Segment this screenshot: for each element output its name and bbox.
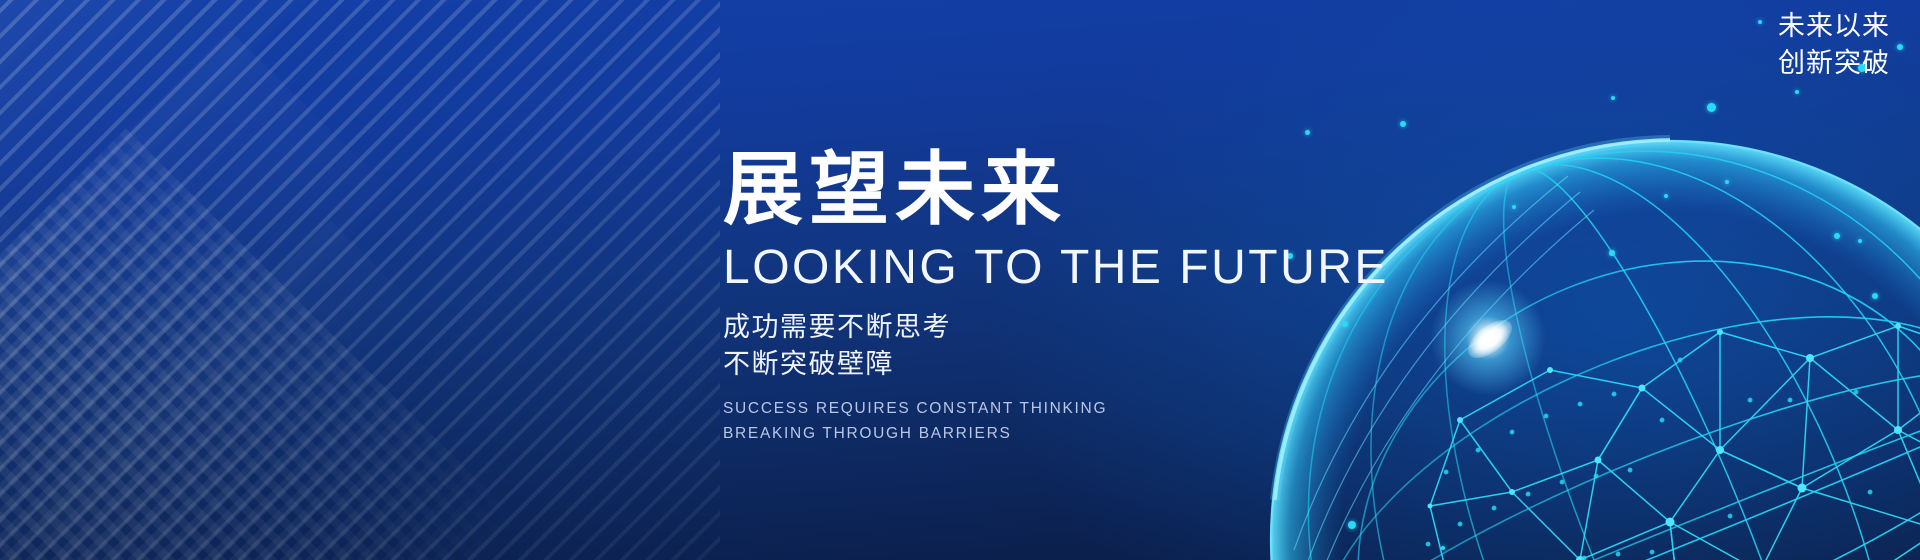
diagonal-band [26,220,415,560]
star-dot [1897,44,1903,50]
star-dot [1725,180,1729,184]
star-dot [1758,20,1762,24]
banner-root: 展望未来 LOOKING TO THE FUTURE 成功需要不断思考 不断突破… [0,0,1920,560]
star-dot [1348,521,1356,529]
subtitle-cn-line1: 成功需要不断思考 [723,309,1423,346]
headline-en: LOOKING TO THE FUTURE [723,242,1423,295]
star-dot [1834,233,1840,239]
star-dot [1858,239,1863,244]
star-dot [1664,194,1668,198]
corner-slogan-line2: 创新突破 [1778,45,1890,82]
rotated-checker-grid [0,128,522,560]
star-dot [1512,205,1516,209]
star-dot [1611,96,1615,100]
star-dot [1795,90,1799,94]
diagonal-line-pattern [0,0,720,560]
diagonal-band [0,0,337,504]
star-dot [1441,546,1445,550]
corner-slogan: 未来以来 创新突破 [1778,8,1890,83]
corner-slogan-line1: 未来以来 [1778,8,1890,45]
light-flare [1428,278,1548,398]
star-dot [1305,130,1310,135]
diagonal-band [0,30,393,560]
headline-cn: 展望未来 [723,148,1423,232]
headline-text-block: 展望未来 LOOKING TO THE FUTURE 成功需要不断思考 不断突破… [723,148,1423,447]
subtitle-en-line1: SUCCESS REQUIRES CONSTANT THINKING [723,396,1423,421]
light-flare-core [1462,313,1519,366]
star-dot [1609,250,1614,255]
diagonal-band [0,150,67,560]
star-dot [1400,121,1406,127]
subtitle-en-line2: BREAKING THROUGH BARRIERS [723,421,1423,446]
diagonal-band [0,0,176,481]
star-dot [1872,293,1878,299]
subtitle-cn-line2: 不断突破壁障 [723,346,1423,383]
left-geometric-decoration [0,0,720,560]
star-dot [1707,103,1716,112]
diagonal-band [0,330,32,560]
